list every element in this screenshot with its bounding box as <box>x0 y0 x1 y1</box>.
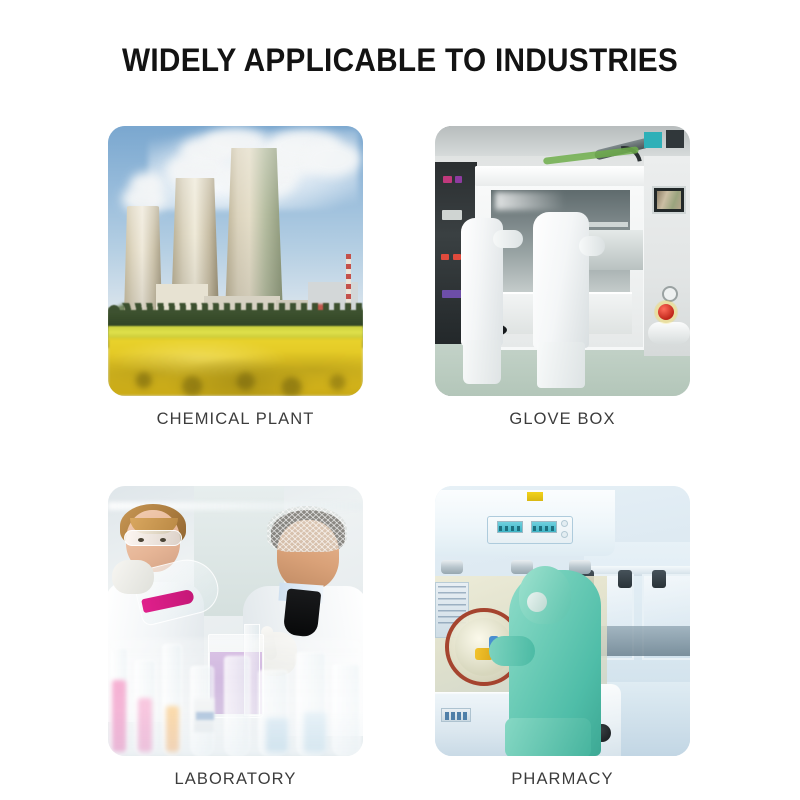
operator-arm <box>489 636 535 666</box>
lcd-digits <box>499 526 521 531</box>
worker-body <box>533 212 589 348</box>
transfer-cylinder <box>648 322 690 344</box>
industry-card-laboratory[interactable]: LABORATORY <box>108 486 363 789</box>
worker-legs <box>537 342 585 388</box>
industries-applications-page: WIDELY APPLICABLE TO INDUSTRIES <box>0 0 800 800</box>
industry-card-glove-box[interactable]: GLOVE BOX <box>435 126 690 429</box>
glove-box-photo[interactable] <box>435 126 690 396</box>
indicator-light <box>455 176 462 183</box>
operator-lap <box>505 718 591 756</box>
readout-bar <box>457 712 461 720</box>
panel-clamp <box>652 570 666 588</box>
worker-arm <box>493 230 523 248</box>
card-label-laboratory: LABORATORY <box>108 770 363 789</box>
eye <box>138 538 144 542</box>
page-title: WIDELY APPLICABLE TO INDUSTRIES <box>28 42 772 79</box>
chemical-plant-photo[interactable] <box>108 126 363 396</box>
indicator-light <box>453 254 461 260</box>
rapeseed-blossom-blur <box>108 370 363 396</box>
card-label-pharmacy: PHARMACY <box>435 770 690 789</box>
worker-arm <box>579 236 605 256</box>
card-label-chemical-plant: CHEMICAL PLANT <box>108 410 363 429</box>
steam-plume-icon <box>304 142 360 176</box>
eye <box>160 538 166 542</box>
window-glare <box>495 192 565 210</box>
dark-equipment-box <box>666 130 684 148</box>
safety-goggles <box>124 530 182 546</box>
readout-bar <box>463 712 467 720</box>
hmi-display[interactable] <box>652 186 686 214</box>
pharmacy-photo[interactable] <box>435 486 690 756</box>
industry-card-pharmacy[interactable]: PHARMACY <box>435 486 690 789</box>
readout-bar <box>451 712 455 720</box>
base-control-readout <box>441 708 471 722</box>
industry-card-grid: CHEMICAL PLANT <box>108 126 690 789</box>
sash-latch[interactable] <box>441 560 463 574</box>
gloved-hand <box>112 560 154 594</box>
operator-mask <box>527 592 547 612</box>
worker-legs <box>463 340 501 384</box>
indicator-light <box>443 176 452 183</box>
panel-button[interactable] <box>561 520 568 527</box>
panel-clamp <box>618 570 632 588</box>
hair-net <box>267 506 347 552</box>
card-label-glove-box: GLOVE BOX <box>435 410 690 429</box>
pressure-gauge-icon <box>662 286 678 302</box>
lcd-digits <box>533 526 555 531</box>
control-readout <box>442 210 462 220</box>
laboratory-photo[interactable] <box>108 486 363 756</box>
emergency-stop-button[interactable] <box>658 304 674 320</box>
teal-equipment-box <box>644 132 662 148</box>
panel-button[interactable] <box>561 531 568 538</box>
necktie <box>283 588 322 637</box>
glovebox-top-rail <box>475 166 646 186</box>
warning-label-icon <box>527 492 543 501</box>
foreground-blur <box>108 638 363 756</box>
cooling-tower <box>225 148 283 316</box>
industry-card-chemical-plant[interactable]: CHEMICAL PLANT <box>108 126 363 429</box>
indicator-light <box>441 254 449 260</box>
steam-plume-icon <box>130 172 164 196</box>
readout-bar <box>445 712 449 720</box>
